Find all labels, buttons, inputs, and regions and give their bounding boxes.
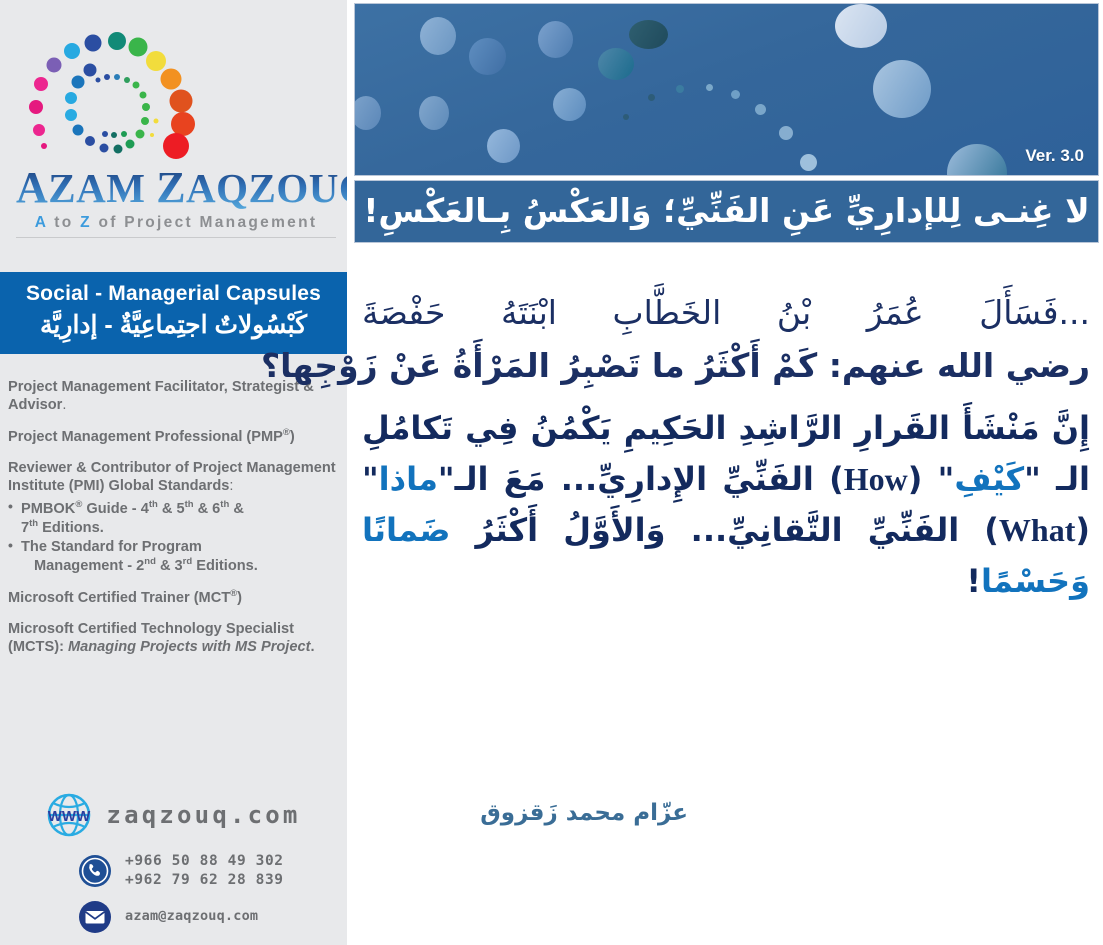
brand-wordmark: AZAM ZAQZOUQ: [16, 166, 346, 210]
ordinal-suffix: th: [185, 499, 194, 510]
envelope-icon: [78, 900, 112, 934]
standards-list-item: The Standard for ProgramManagement - 2nd…: [8, 538, 342, 575]
ordinal-suffix: th: [149, 499, 158, 510]
para-part: " (: [908, 460, 955, 498]
version-label: Ver. 3.0: [1025, 146, 1084, 166]
bubble-decoration: [800, 154, 817, 171]
credentials-list: Project Management Facilitator, Strategi…: [8, 378, 342, 669]
ordinal-suffix: th: [220, 499, 229, 510]
bubble-decoration: [419, 96, 449, 130]
credential-item: Project Management Professional (PMP®): [8, 427, 342, 446]
quote-line-1: ...فَسَأَلَ عُمَرُ بْنُ الخَطَّابِ ابْنَ…: [362, 286, 1090, 339]
bubble-decoration: [420, 17, 456, 55]
para-part: !: [966, 562, 981, 600]
main-paragraph: إِنَّ مَنْشَأَ القَرارِ الرَّاشِدِ الحَك…: [362, 403, 1090, 608]
bubble-decoration: [629, 20, 668, 49]
credential-item: Microsoft Certified Trainer (MCT®): [8, 588, 342, 607]
headline-arabic: لا غِنـى لِلإدارِيِّ عَنِ الفَنِّيِّ؛ وَ…: [363, 193, 1089, 229]
para-part: ) الفَنِّيِّ التَّقانِيِّ... وَالأَوَّلُ…: [450, 511, 999, 549]
credential-item: Microsoft Certified Technology Specialis…: [8, 620, 342, 656]
phone-number-2: +962 79 62 28 839: [125, 872, 284, 888]
capsule-banner-arabic: كَبْسُولاتٌ اجتِماعِيَّةٌ - إدارِيَّة: [0, 309, 347, 343]
quote-line-2: رضي الله عنهم: كَمْ أَكْثَرُ ما تَصْبِرُ…: [362, 339, 1090, 392]
bubble-decoration: [538, 21, 573, 58]
registered-mark: ®: [283, 427, 290, 438]
para-latin-how: How: [844, 461, 908, 497]
author-signature: عزّام محمد زَقزوق: [480, 800, 688, 826]
ordinal-suffix: th: [29, 518, 38, 529]
para-highlight-matha: ماذا: [379, 460, 438, 498]
bubble-decoration: [755, 104, 766, 115]
headline-bar: لا غِنـى لِلإدارِيِّ عَنِ الفَنِّيِّ؛ وَ…: [354, 180, 1099, 243]
bubble-decoration: [648, 94, 655, 101]
bubble-decoration: [623, 114, 629, 120]
logo-block: AZAM ZAQZOUQ A to Z of Project Managemen…: [0, 0, 347, 265]
phone-row[interactable]: +966 50 88 49 302+962 79 62 28 839: [78, 852, 347, 890]
bubble-decoration: [706, 84, 713, 91]
sidebar: AZAM ZAQZOUQ A to Z of Project Managemen…: [0, 0, 350, 945]
header-banner: Ver. 3.0: [354, 3, 1099, 176]
bubble-decoration: [731, 90, 740, 99]
globe-www-icon: WWW: [46, 792, 92, 838]
website-url[interactable]: zaqzouq.com: [106, 801, 300, 829]
standards-list-item: PMBOK® Guide - 4th & 5th & 6th &7th Edit…: [8, 499, 342, 537]
email-row[interactable]: azam@zaqzouq.com: [78, 900, 347, 934]
bubble-decoration: [469, 38, 506, 75]
bubble-decoration: [835, 4, 887, 48]
bubble-decoration: [598, 48, 634, 80]
spiral-dots-logo-icon: [28, 22, 228, 172]
website-row[interactable]: WWW zaqzouq.com: [0, 792, 347, 838]
standards-list: PMBOK® Guide - 4th & 5th & 6th &7th Edit…: [8, 499, 342, 575]
phone-number-1: +966 50 88 49 302: [125, 853, 284, 869]
bubble-decoration: [354, 96, 381, 130]
para-latin-what: What: [999, 512, 1075, 548]
brand-tagline: A to Z of Project Management: [16, 214, 336, 238]
phone-icon: [78, 854, 112, 888]
capsule-banner-english: Social - Managerial Capsules: [0, 281, 347, 307]
contact-block: WWW zaqzouq.com +966 50 88 49 302+962 79…: [0, 792, 347, 934]
bubble-decoration: [873, 60, 931, 118]
bubble-decoration: [487, 129, 520, 163]
svg-text:WWW: WWW: [48, 808, 91, 825]
email-address[interactable]: azam@zaqzouq.com: [125, 908, 258, 926]
bubble-decoration: [553, 88, 586, 121]
ordinal-suffix: nd: [144, 556, 156, 567]
credential-item: Reviewer & Contributor of Project Manage…: [8, 459, 342, 495]
main-panel: Ver. 3.0 لا غِنـى لِلإدارِيِّ عَنِ الفَن…: [350, 0, 1103, 945]
tagline-text: A to Z of Project Management: [35, 214, 318, 231]
bubble-decoration: [676, 85, 684, 93]
bubble-decoration: [947, 144, 1007, 176]
phone-numbers[interactable]: +966 50 88 49 302+962 79 62 28 839: [125, 852, 284, 890]
body-text: ...فَسَأَلَ عُمَرُ بْنُ الخَطَّابِ ابْنَ…: [362, 286, 1090, 608]
para-highlight-kayfa: كَيْفِ: [954, 460, 1024, 498]
ordinal-suffix: rd: [183, 556, 193, 567]
poster-page: AZAM ZAQZOUQ A to Z of Project Managemen…: [0, 0, 1103, 945]
bubble-decoration: [779, 126, 793, 140]
para-part: ) الفَنِّيِّ الإِدارِيِّ... مَعَ الـ": [438, 460, 844, 498]
wordmark-text: AZAM ZAQZOUQ: [16, 166, 350, 210]
